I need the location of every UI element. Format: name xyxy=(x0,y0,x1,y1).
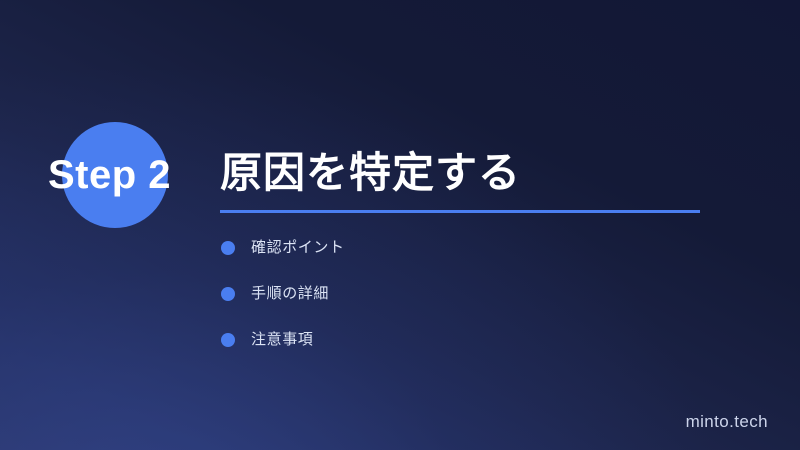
footer-brand: minto.tech xyxy=(686,412,768,432)
list-item-label: 確認ポイント xyxy=(251,238,345,258)
list-item: 手順の詳細 xyxy=(221,280,661,308)
list-item: 確認ポイント xyxy=(221,234,661,262)
list-item: 注意事項 xyxy=(221,326,661,354)
bullet-list: 確認ポイント 手順の詳細 注意事項 xyxy=(221,234,661,372)
bullet-dot-icon xyxy=(221,241,235,255)
list-item-label: 注意事項 xyxy=(251,330,313,350)
slide-title: 原因を特定する xyxy=(220,147,521,199)
bullet-dot-icon xyxy=(221,287,235,301)
list-item-label: 手順の詳細 xyxy=(251,284,329,304)
bullet-dot-icon xyxy=(221,333,235,347)
presentation-slide: Step 2 原因を特定する 確認ポイント 手順の詳細 注意事項 minto.t… xyxy=(0,0,800,450)
step-badge-label: Step 2 xyxy=(48,152,218,198)
title-divider xyxy=(220,210,700,213)
